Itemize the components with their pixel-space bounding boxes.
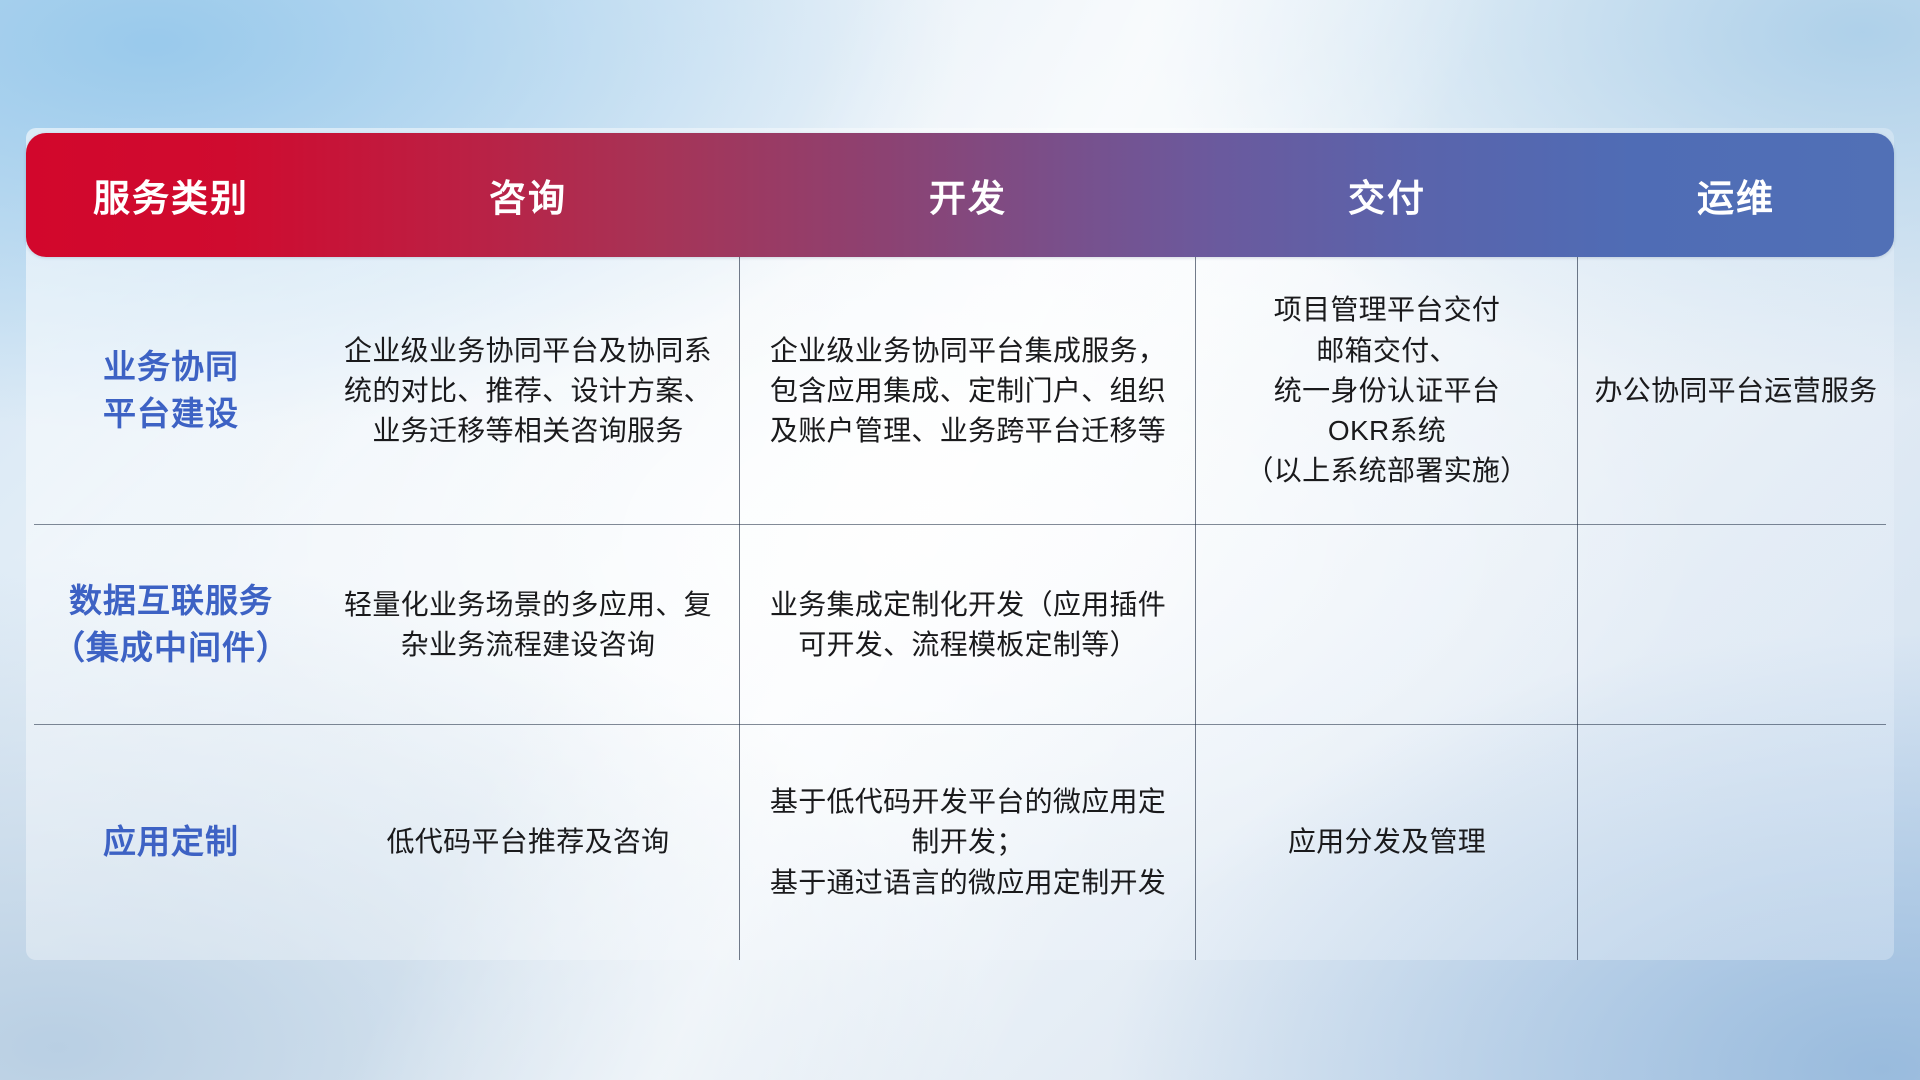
row-label-cell: 应用定制 bbox=[26, 725, 316, 960]
cell-text: 办公协同平台运营服务 bbox=[1594, 371, 1877, 411]
cell-text: 企业级业务协同平台集成服务， 包含应用集成、定制门户、组织 及账户管理、业务跨平… bbox=[770, 331, 1166, 452]
row-label: 应用定制 bbox=[103, 819, 239, 866]
cell-text: 轻量化业务场景的多应用、复 杂业务流程建设咨询 bbox=[344, 585, 712, 666]
cell-consulting: 企业级业务协同平台及协同系 统的对比、推荐、设计方案、 业务迁移等相关咨询服务 bbox=[316, 257, 740, 525]
row-label-cell: 数据互联服务 （集成中间件） bbox=[26, 525, 316, 725]
cell-text: 企业级业务协同平台及协同系 统的对比、推荐、设计方案、 业务迁移等相关咨询服务 bbox=[344, 331, 712, 452]
column-header-delivery: 交付 bbox=[1196, 174, 1578, 217]
cell-development: 业务集成定制化开发（应用插件 可开发、流程模板定制等） bbox=[740, 525, 1196, 725]
cell-text: 低代码平台推荐及咨询 bbox=[386, 822, 669, 862]
table-header-row: 服务类别 咨询 开发 交付 运维 bbox=[26, 133, 1894, 257]
table-row: 数据互联服务 （集成中间件） 轻量化业务场景的多应用、复 杂业务流程建设咨询 业… bbox=[26, 525, 1894, 725]
column-header-consulting: 咨询 bbox=[316, 174, 740, 217]
cell-text: 基于低代码开发平台的微应用定 制开发； 基于通过语言的微应用定制开发 bbox=[770, 782, 1166, 903]
column-header-operations: 运维 bbox=[1578, 174, 1894, 217]
row-label: 数据互联服务 （集成中间件） bbox=[52, 578, 290, 672]
cell-operations: 办公协同平台运营服务 bbox=[1578, 257, 1894, 525]
column-header-development: 开发 bbox=[740, 174, 1196, 217]
service-matrix-panel: 服务类别 咨询 开发 交付 运维 业务协同 平台建设 企业级业务协同平台及协同系… bbox=[26, 128, 1894, 960]
table-body: 业务协同 平台建设 企业级业务协同平台及协同系 统的对比、推荐、设计方案、 业务… bbox=[26, 257, 1894, 960]
cell-development: 企业级业务协同平台集成服务， 包含应用集成、定制门户、组织 及账户管理、业务跨平… bbox=[740, 257, 1196, 525]
row-label-cell: 业务协同 平台建设 bbox=[26, 257, 316, 525]
cell-text: 项目管理平台交付 邮箱交付、 统一身份认证平台 OKR系统 （以上系统部署实施） bbox=[1245, 290, 1528, 492]
column-header-service-category: 服务类别 bbox=[26, 174, 316, 217]
cell-text: 业务集成定制化开发（应用插件 可开发、流程模板定制等） bbox=[770, 585, 1166, 666]
cell-consulting: 低代码平台推荐及咨询 bbox=[316, 725, 740, 960]
cell-operations bbox=[1578, 525, 1894, 725]
cell-delivery: 应用分发及管理 bbox=[1196, 725, 1578, 960]
cell-operations bbox=[1578, 725, 1894, 960]
table-row: 业务协同 平台建设 企业级业务协同平台及协同系 统的对比、推荐、设计方案、 业务… bbox=[26, 257, 1894, 525]
cell-development: 基于低代码开发平台的微应用定 制开发； 基于通过语言的微应用定制开发 bbox=[740, 725, 1196, 960]
cell-delivery bbox=[1196, 525, 1578, 725]
table-row: 应用定制 低代码平台推荐及咨询 基于低代码开发平台的微应用定 制开发； 基于通过… bbox=[26, 725, 1894, 960]
cell-delivery: 项目管理平台交付 邮箱交付、 统一身份认证平台 OKR系统 （以上系统部署实施） bbox=[1196, 257, 1578, 525]
cell-consulting: 轻量化业务场景的多应用、复 杂业务流程建设咨询 bbox=[316, 525, 740, 725]
cell-text: 应用分发及管理 bbox=[1288, 822, 1486, 862]
row-label: 业务协同 平台建设 bbox=[103, 344, 239, 438]
